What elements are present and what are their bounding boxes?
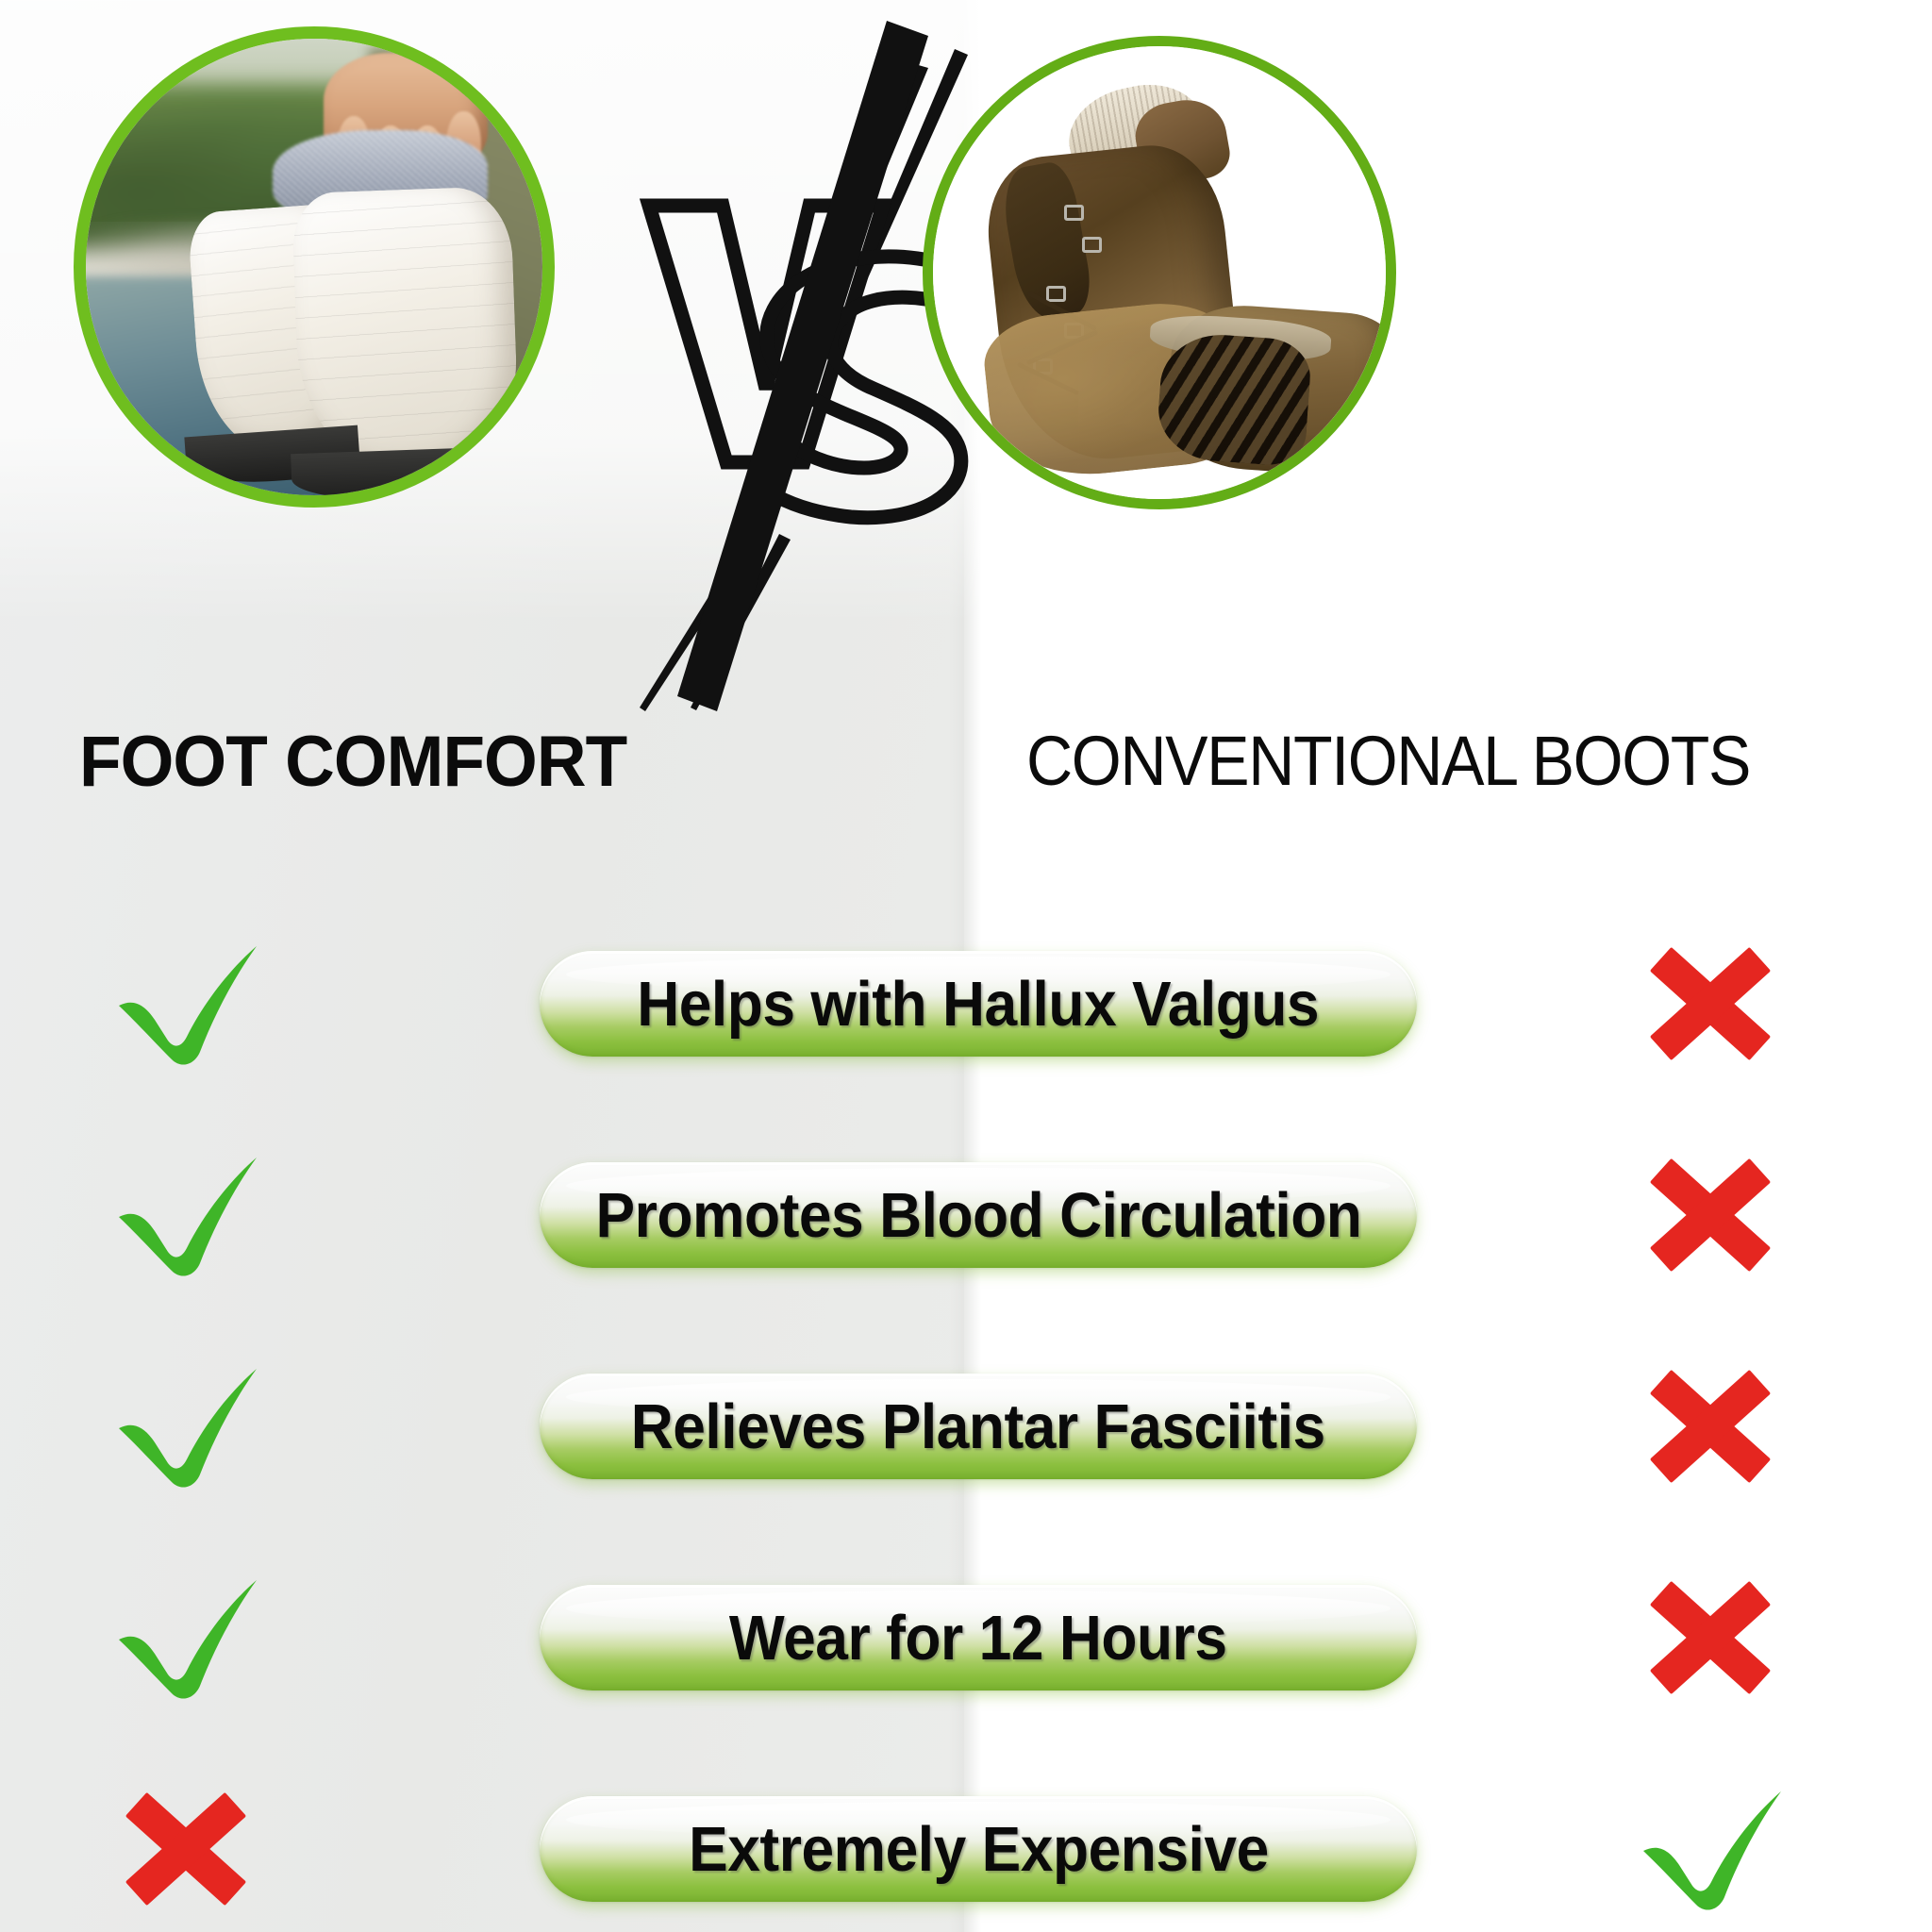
comparison-row: Relieves Plantar Fasciitis bbox=[0, 1321, 1932, 1532]
comparison-infographic: FOOT COMFORT CONVENTIONAL BOOTS Helps wi… bbox=[0, 0, 1932, 1932]
check-icon bbox=[1630, 1778, 1790, 1920]
competitor-photo-icon bbox=[933, 46, 1386, 499]
feature-pill: Extremely Expensive bbox=[540, 1796, 1417, 1902]
check-icon bbox=[106, 933, 266, 1074]
comparison-row: Helps with Hallux Valgus bbox=[0, 898, 1932, 1109]
right-product-image bbox=[923, 36, 1396, 509]
cross-icon bbox=[1630, 933, 1790, 1074]
right-column-title: CONVENTIONAL BOOTS bbox=[1026, 726, 1750, 796]
feature-label: Relieves Plantar Fasciitis bbox=[631, 1391, 1325, 1463]
feature-pill: Relieves Plantar Fasciitis bbox=[540, 1374, 1417, 1479]
feature-label: Wear for 12 Hours bbox=[729, 1602, 1227, 1674]
left-product-image bbox=[74, 26, 555, 508]
check-icon bbox=[106, 1356, 266, 1497]
check-icon bbox=[106, 1567, 266, 1708]
feature-label: Helps with Hallux Valgus bbox=[638, 968, 1320, 1041]
cross-icon bbox=[1630, 1144, 1790, 1286]
feature-label: Extremely Expensive bbox=[689, 1813, 1269, 1886]
product-photo-icon bbox=[86, 39, 542, 495]
cross-icon bbox=[1630, 1567, 1790, 1708]
cross-icon bbox=[1630, 1356, 1790, 1497]
feature-pill: Helps with Hallux Valgus bbox=[540, 951, 1417, 1057]
comparison-row: Extremely Expensive bbox=[0, 1743, 1932, 1932]
comparison-rows: Helps with Hallux ValgusPromotes Blood C… bbox=[0, 898, 1932, 1932]
feature-pill: Promotes Blood Circulation bbox=[540, 1162, 1417, 1268]
left-column-title: FOOT COMFORT bbox=[79, 726, 626, 798]
feature-label: Promotes Blood Circulation bbox=[595, 1179, 1361, 1252]
check-icon bbox=[106, 1144, 266, 1286]
comparison-row: Wear for 12 Hours bbox=[0, 1532, 1932, 1743]
hero-section bbox=[0, 0, 1932, 736]
cross-icon bbox=[106, 1778, 266, 1920]
comparison-row: Promotes Blood Circulation bbox=[0, 1109, 1932, 1321]
feature-pill: Wear for 12 Hours bbox=[540, 1585, 1417, 1690]
